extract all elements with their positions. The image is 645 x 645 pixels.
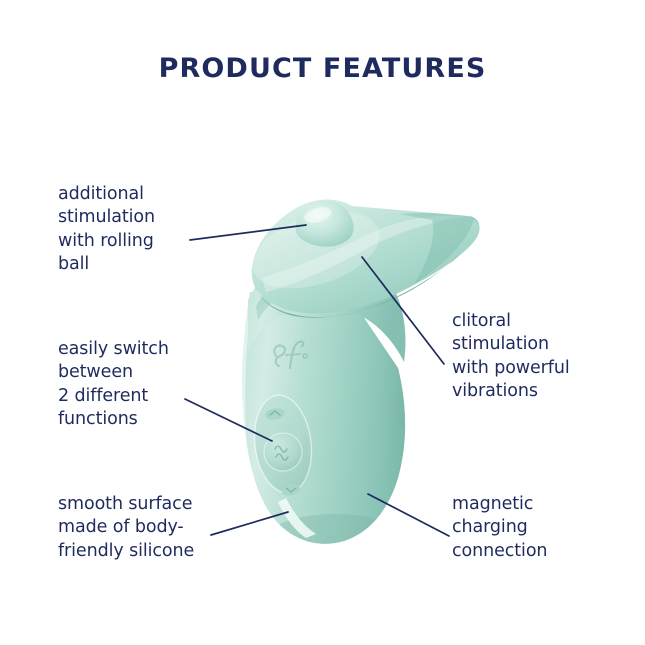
product-body-graphic [238, 197, 480, 566]
function-mode-button[interactable] [264, 433, 302, 471]
page-title: PRODUCT FEATURES [0, 55, 645, 82]
feature-label-rolling-ball: additional stimulation with rolling ball [58, 183, 223, 276]
feature-label-magnetic-charging: magnetic charging connection [452, 493, 627, 563]
product-handle [238, 280, 420, 566]
feature-label-switch-functions: easily switch between 2 different functi… [58, 338, 228, 431]
rolling-ball [296, 201, 354, 247]
feature-label-clitoral-stimulation: clitoral stimulation with powerful vibra… [452, 310, 632, 403]
leader-clitoral [362, 257, 444, 364]
control-panel-recess [249, 392, 317, 496]
product-features-infographic: PRODUCT FEATURES [0, 0, 645, 645]
feature-label-silicone: smooth surface made of body- friendly si… [58, 493, 248, 563]
product-neck [248, 247, 406, 362]
down-arrow-button[interactable] [281, 483, 302, 497]
up-arrow-button[interactable] [265, 407, 286, 421]
brand-logo-sf [274, 341, 307, 368]
charging-contact-gloss [278, 498, 316, 538]
control-panel [249, 392, 317, 497]
leader-magnetic [368, 494, 449, 536]
product-head [243, 197, 480, 317]
